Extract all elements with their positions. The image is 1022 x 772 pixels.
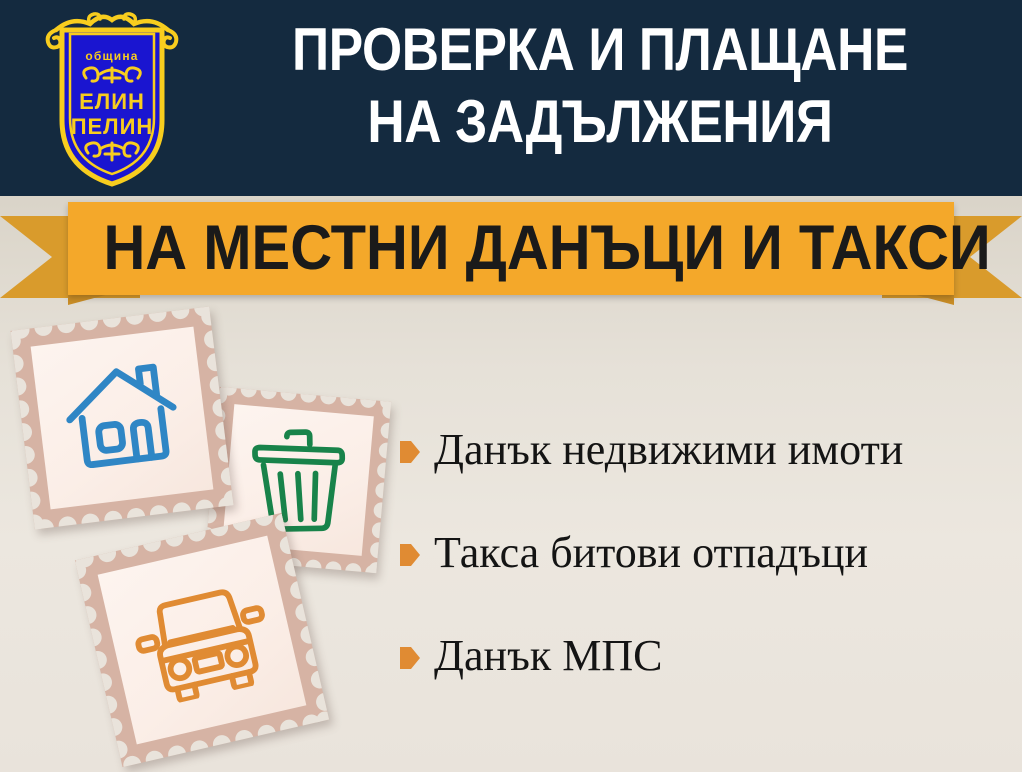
list-item[interactable]: Данък МПС [400, 630, 1010, 733]
page-title: ПРОВЕРКА И ПЛАЩАНЕ НА ЗАДЪЛЖЕНИЯ [243, 14, 957, 158]
list-item[interactable]: Такса битови отпадъци [400, 527, 1010, 630]
coat-of-arms-icon: община ЕЛИН ПЕЛИН [42, 8, 182, 188]
arrow-bullet-icon [400, 647, 420, 669]
arrow-bullet-icon [400, 441, 420, 463]
crest-text-obshtina: община [85, 49, 138, 63]
ribbon-text: НА МЕСТНИ ДАНЪЦИ И ТАКСИ [103, 212, 918, 284]
page-title-line2: НА ЗАДЪЛЖЕНИЯ [243, 86, 957, 158]
poster-root: НА МЕСТНИ ДАНЪЦИ И ТАКСИ ПРОВЕРКА И ПЛАЩ… [0, 0, 1022, 772]
page-title-line1: ПРОВЕРКА И ПЛАЩАНЕ [292, 16, 908, 83]
house-icon [53, 347, 191, 485]
stamp-property-tax [11, 307, 234, 530]
crest-text-elin: ЕЛИН [79, 89, 145, 114]
list-item-label: Данък МПС [434, 630, 662, 682]
ribbon-main-band: НА МЕСТНИ ДАНЪЦИ И ТАКСИ [68, 202, 954, 295]
ribbon-banner: НА МЕСТНИ ДАНЪЦИ И ТАКСИ [0, 196, 1022, 306]
list-item[interactable]: Данък недвижими имоти [400, 424, 1010, 527]
crest-text-pelin: ПЕЛИН [71, 114, 154, 139]
arrow-bullet-icon [400, 544, 420, 566]
list-item-label: Такса битови отпадъци [434, 527, 868, 579]
list-item-label: Данък недвижими имоти [434, 424, 903, 476]
tax-types-list: Данък недвижими имоти Такса битови отпад… [400, 424, 1010, 733]
